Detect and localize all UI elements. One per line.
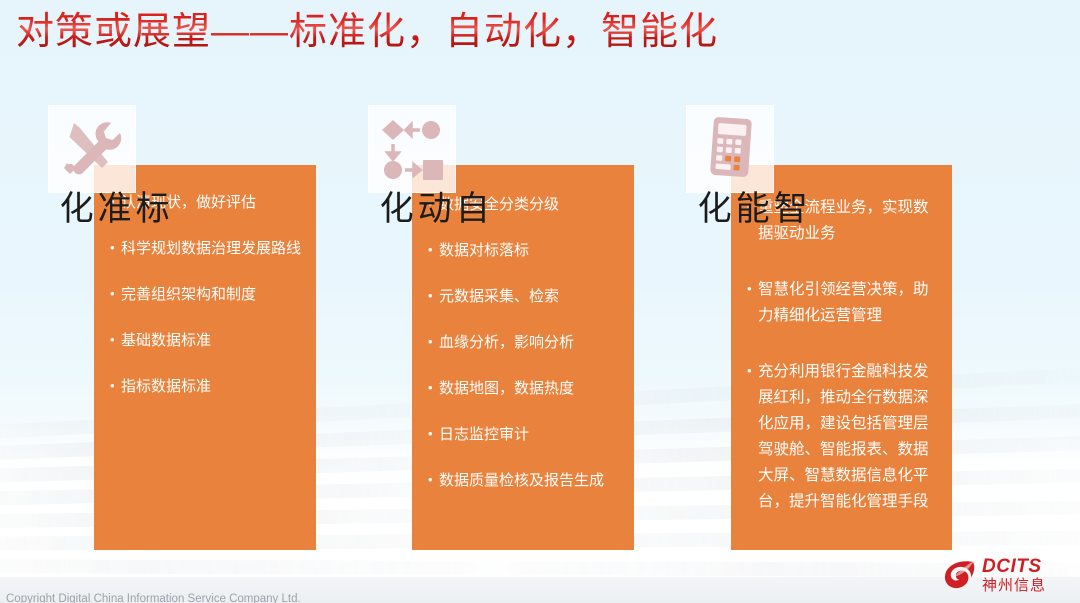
list-item: 指标数据标准 — [110, 375, 302, 399]
logo-text-cn: 神州信息 — [982, 577, 1046, 594]
list-item: 数据对标落标 — [428, 239, 620, 263]
column-label-automation: 自动化 — [374, 190, 488, 226]
tools-wrench-screwdriver-icon — [48, 105, 136, 193]
bullet-list-automation: 数据安全分类分级 数据对标落标 元数据采集、检索 血缘分析，影响分析 数据地图，… — [428, 193, 620, 493]
list-item: 智慧化引领经营决策，助力精细化运营管理 — [747, 277, 938, 329]
bullet-list-intelligence: 重塑全流程业务，实现数据驱动业务 智慧化引领经营决策，助力精细化运营管理 充分利… — [747, 195, 938, 515]
calculator-icon — [686, 105, 774, 193]
logo-text-en: DCITS — [982, 557, 1046, 577]
list-item: 血缘分析，影响分析 — [428, 331, 620, 355]
company-logo: DCITS 神州信息 — [940, 553, 1072, 597]
list-item: 充分利用银行金融科技发展红利，推动全行数据深化应用，建设包括管理层驾驶舱、智能报… — [747, 359, 938, 515]
flowchart-process-icon — [368, 105, 456, 193]
list-item: 日志监控审计 — [428, 423, 620, 447]
slide-canvas: 对策或展望——标准化，自动化，智能化 标准化 认清现状，做好评估 科学规划数据治… — [0, 0, 1080, 603]
list-item: 数据地图，数据热度 — [428, 377, 620, 401]
page-title: 对策或展望——标准化，自动化，智能化 — [16, 8, 718, 56]
list-item: 元数据采集、检索 — [428, 285, 620, 309]
dcits-swirl-icon — [940, 555, 980, 595]
list-item: 科学规划数据治理发展路线 — [110, 237, 302, 261]
column-label-standardization: 标准化 — [54, 190, 168, 226]
list-item: 完善组织架构和制度 — [110, 283, 302, 307]
list-item: 基础数据标准 — [110, 329, 302, 353]
column-label-intelligence: 智能化 — [692, 190, 806, 226]
list-item: 数据质量检核及报告生成 — [428, 469, 620, 493]
copyright-text: Copyright Digital China Information Serv… — [6, 593, 301, 603]
